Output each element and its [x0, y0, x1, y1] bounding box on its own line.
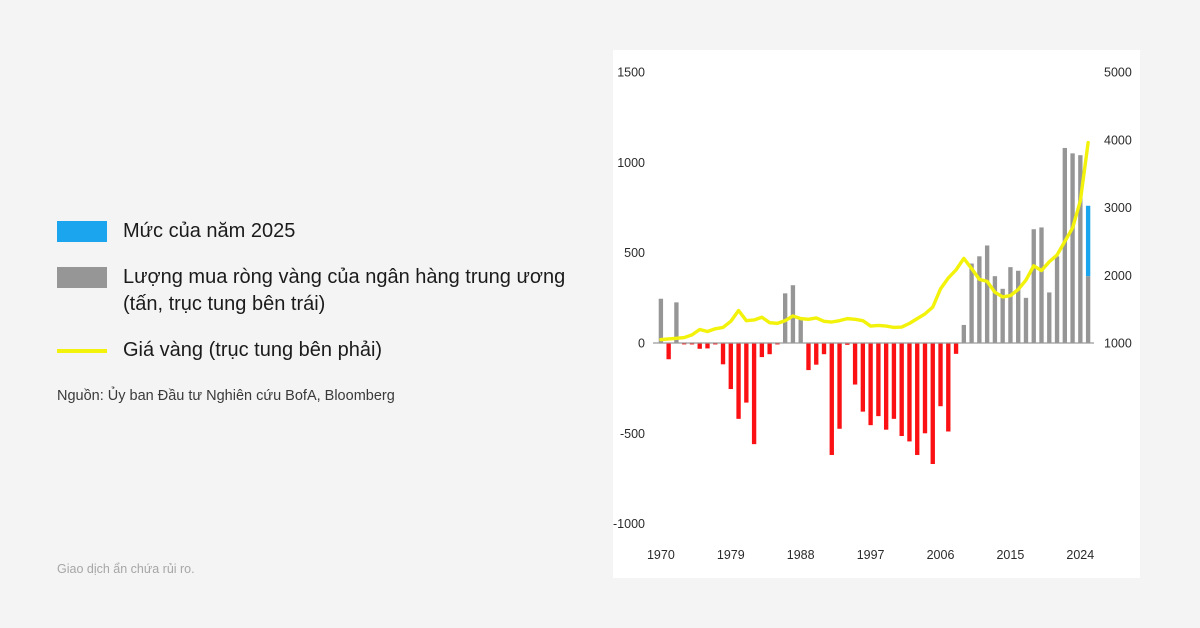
bar — [1016, 271, 1020, 343]
legend-item-central-bank-purchases: Lượng mua ròng vàng của ngân hàng trung … — [57, 264, 657, 318]
y-axis-right: 50004000300020001000 — [1104, 66, 1132, 351]
x-axis-tick: 1979 — [717, 548, 745, 562]
combo-chart: 150010005000-500-1000 500040003000200010… — [613, 50, 1140, 578]
bar — [923, 343, 927, 433]
y-axis-right-tick: 5000 — [1104, 66, 1132, 80]
bar — [962, 325, 966, 343]
bar — [938, 343, 942, 406]
bar — [822, 343, 826, 354]
chart-legend: Mức của năm 2025 Lượng mua ròng vàng của… — [57, 218, 657, 383]
bar-2025-base — [1086, 276, 1090, 343]
bar — [760, 343, 764, 357]
bar — [853, 343, 857, 385]
legend-item-gold-price: Giá vàng (trục tung bên phải) — [57, 337, 657, 364]
x-axis-tick: 2015 — [996, 548, 1024, 562]
bar — [799, 320, 803, 343]
bar — [985, 245, 989, 343]
bar — [915, 343, 919, 455]
legend-label-line2: (tấn, trục tung bên trái) — [123, 293, 325, 315]
x-axis-tick: 1988 — [787, 548, 815, 562]
bar — [1055, 256, 1059, 343]
y-axis-left-tick: 1500 — [617, 66, 645, 80]
bars-layer — [659, 148, 1091, 464]
bar — [861, 343, 865, 412]
bar — [1024, 298, 1028, 343]
bar — [977, 256, 981, 343]
bar — [791, 285, 795, 343]
y-axis-left: 150010005000-500-1000 — [613, 66, 645, 531]
bar — [814, 343, 818, 365]
bar — [1047, 292, 1051, 343]
risk-disclaimer: Giao dịch ẩn chứa rủi ro. — [57, 562, 195, 576]
bar — [907, 343, 911, 441]
y-axis-left-tick: -500 — [620, 427, 645, 441]
bar — [900, 343, 904, 436]
y-axis-left-tick: 500 — [624, 246, 645, 260]
bar — [752, 343, 756, 444]
y-axis-left-tick: 0 — [638, 337, 645, 351]
bar — [868, 343, 872, 425]
bar — [767, 343, 771, 354]
bar — [806, 343, 810, 370]
bar — [876, 343, 880, 416]
bar — [884, 343, 888, 430]
y-axis-right-tick: 2000 — [1104, 269, 1132, 283]
y-axis-right-tick: 3000 — [1104, 201, 1132, 215]
bar — [931, 343, 935, 464]
bar — [954, 343, 958, 354]
bar — [698, 343, 702, 349]
bar — [892, 343, 896, 419]
legend-label-2025: Mức của năm 2025 — [123, 218, 295, 245]
bar — [830, 343, 834, 455]
bar — [1039, 227, 1043, 343]
source-note: Nguồn: Ủy ban Đầu tư Nghiên cứu BofA, Bl… — [57, 388, 395, 404]
y-axis-right-tick: 1000 — [1104, 337, 1132, 351]
legend-swatch-blue — [57, 221, 107, 242]
bar — [946, 343, 950, 431]
bar — [659, 299, 663, 343]
bar — [666, 343, 670, 359]
legend-swatch-line — [57, 340, 107, 361]
legend-swatch-gray — [57, 267, 107, 288]
bar — [705, 343, 709, 348]
chart-panel: 150010005000-500-1000 500040003000200010… — [613, 50, 1140, 578]
x-axis: 1970197919881997200620152024 — [647, 548, 1094, 562]
bar — [729, 343, 733, 389]
x-axis-tick: 1970 — [647, 548, 675, 562]
y-axis-left-tick: 1000 — [617, 156, 645, 170]
bar — [744, 343, 748, 403]
bar — [969, 264, 973, 343]
legend-label-gold-price: Giá vàng (trục tung bên phải) — [123, 337, 382, 364]
bar-2025-highlight — [1086, 206, 1090, 276]
y-axis-left-tick: -1000 — [613, 517, 645, 531]
x-axis-tick: 2006 — [927, 548, 955, 562]
legend-item-2025: Mức của năm 2025 — [57, 218, 657, 245]
bar — [837, 343, 841, 429]
x-axis-tick: 2024 — [1066, 548, 1094, 562]
bar — [1008, 267, 1012, 343]
left-info-panel: Mức của năm 2025 Lượng mua ròng vàng của… — [0, 0, 613, 628]
bar — [1032, 229, 1036, 343]
bar — [721, 343, 725, 364]
bar — [993, 276, 997, 343]
legend-label-central-bank-purchases: Lượng mua ròng vàng của ngân hàng trung … — [123, 264, 565, 318]
x-axis-tick: 1997 — [857, 548, 885, 562]
bar — [1070, 153, 1074, 343]
y-axis-right-tick: 4000 — [1104, 133, 1132, 147]
bar — [736, 343, 740, 419]
legend-label-line1: Lượng mua ròng vàng của ngân hàng trung … — [123, 266, 565, 288]
